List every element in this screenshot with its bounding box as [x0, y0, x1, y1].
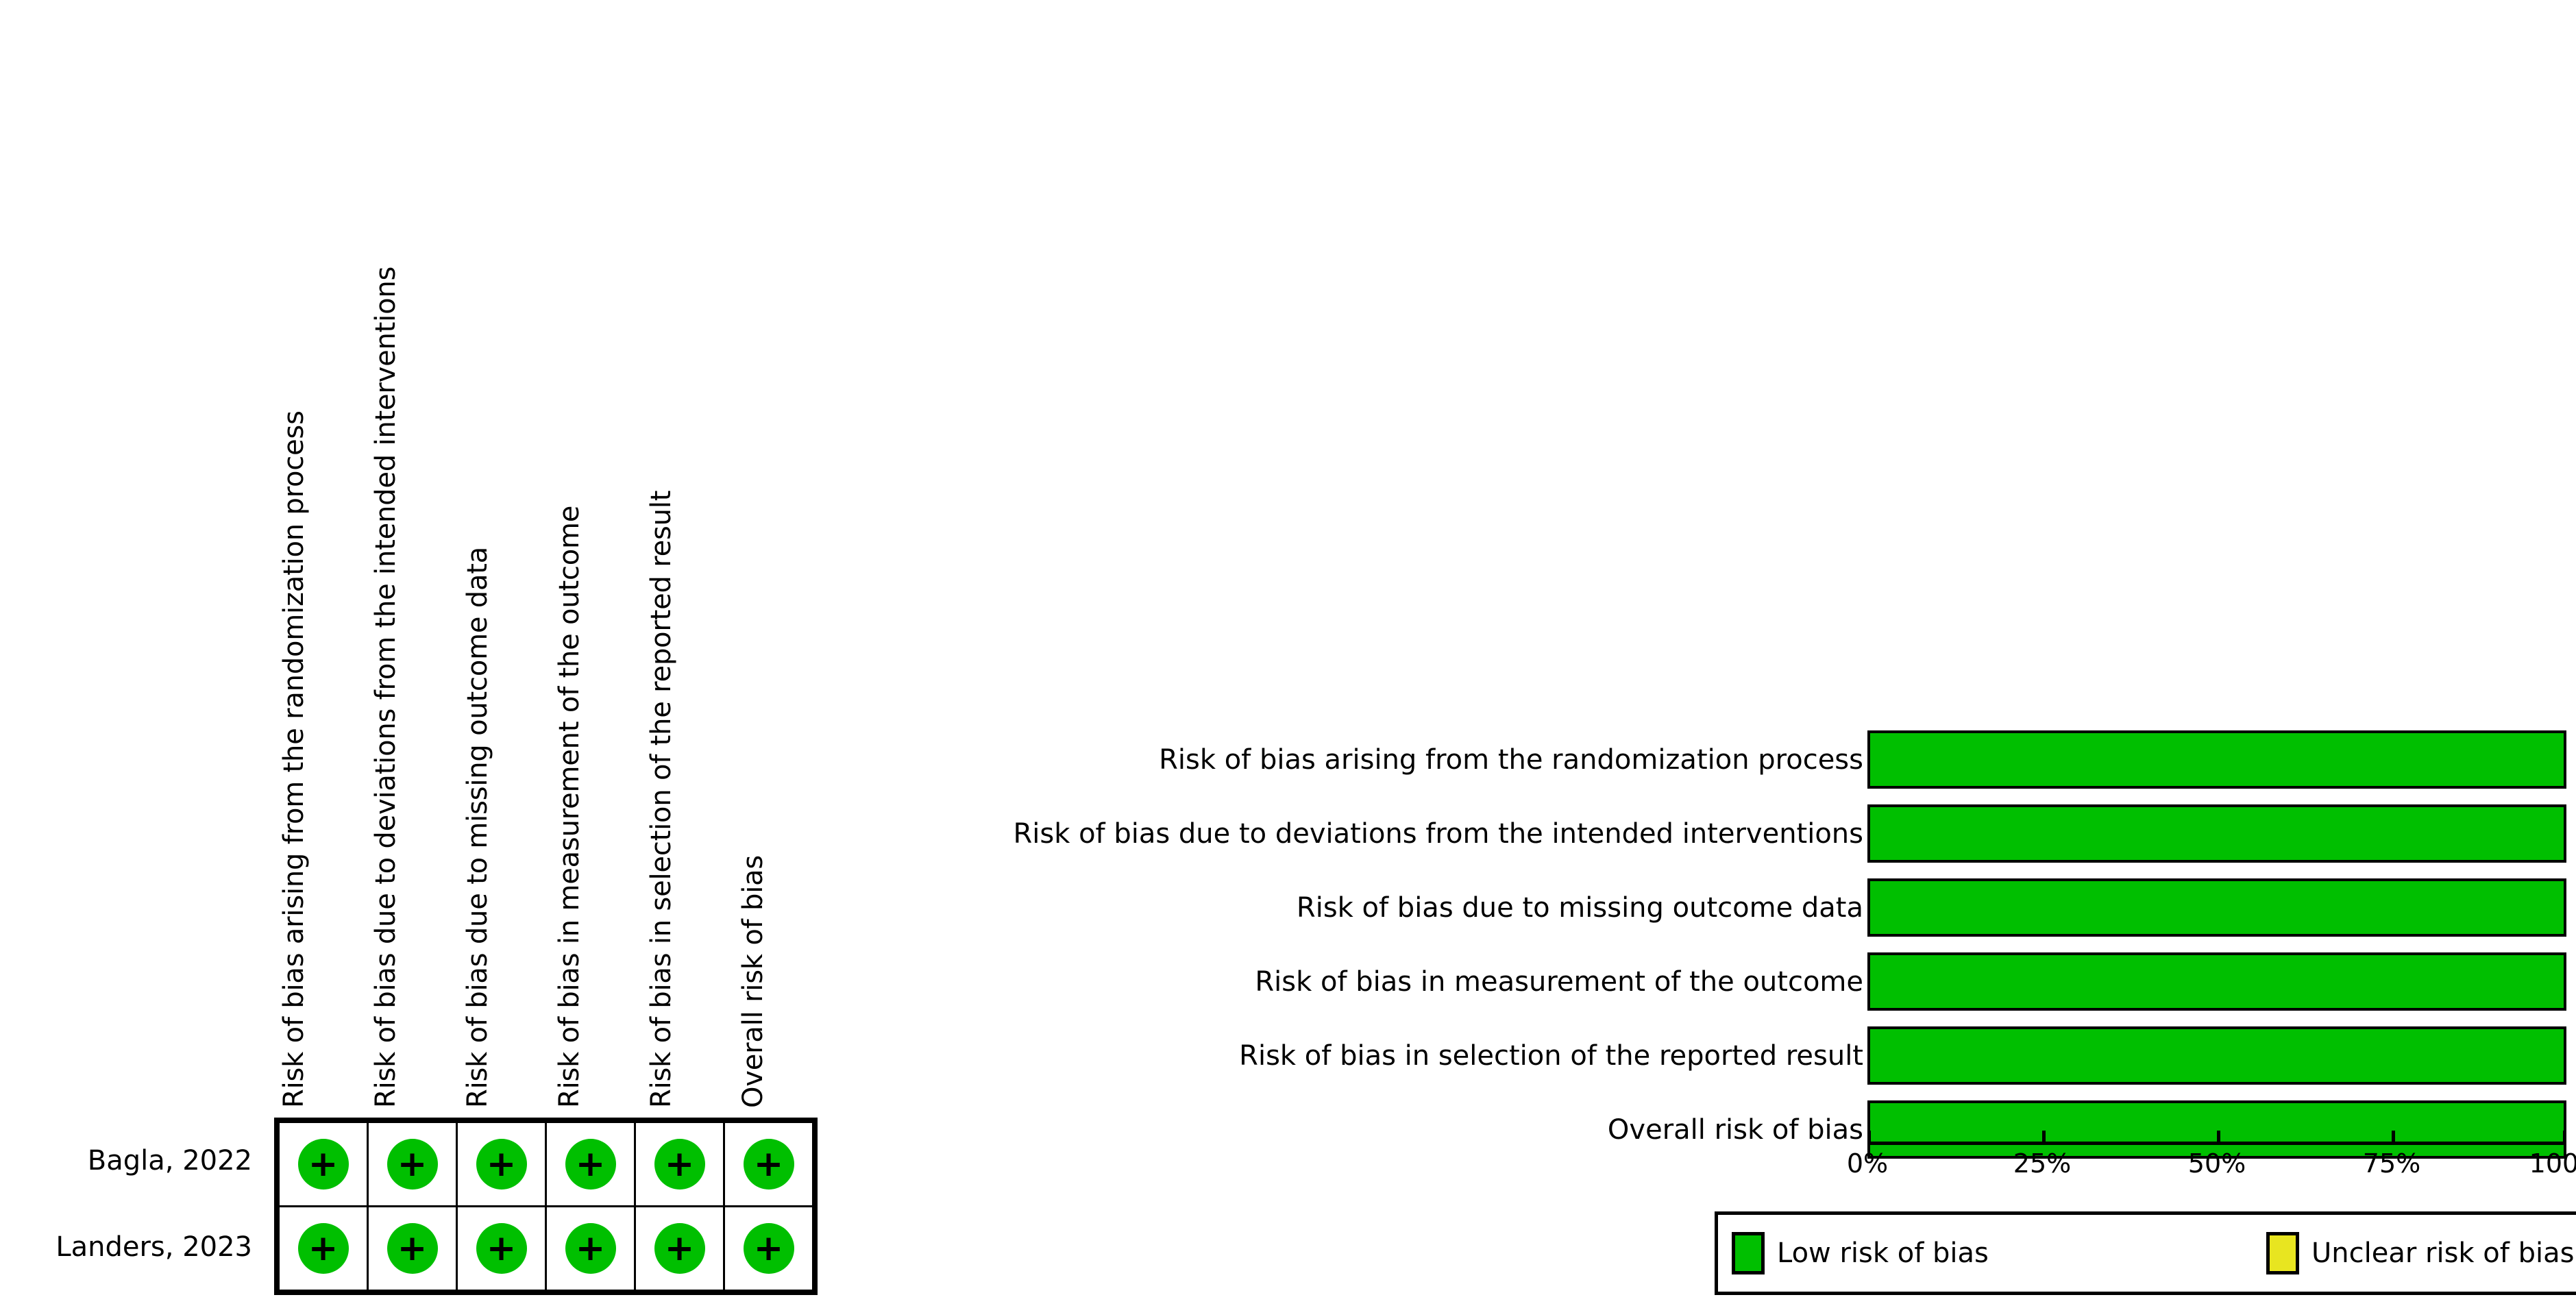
- judgement-low-icon: +: [298, 1139, 349, 1190]
- summary-bar-label: Risk of bias in measurement of the outco…: [890, 968, 1863, 996]
- summary-bar-row: Risk of bias due to deviations from the …: [843, 797, 2576, 871]
- traffic-light-cell[interactable]: +: [279, 1207, 368, 1291]
- summary-bar-chart-panel: Risk of bias arising from the randomizat…: [843, 0, 2576, 1306]
- judgement-glyph: +: [565, 1223, 616, 1274]
- judgement-glyph: +: [744, 1139, 794, 1190]
- judgement-glyph: +: [744, 1223, 794, 1274]
- column-header-label: Overall risk of bias: [739, 855, 767, 1108]
- judgement-glyph: +: [654, 1139, 705, 1190]
- summary-bar-row: Risk of bias in selection of the reporte…: [843, 1019, 2576, 1093]
- traffic-light-row: ++++++: [279, 1207, 813, 1291]
- summary-bar-row: Risk of bias arising from the randomizat…: [843, 723, 2576, 797]
- legend-swatch-unclear-icon: [2266, 1232, 2299, 1274]
- judgement-low-icon: +: [387, 1223, 438, 1274]
- bar-segment-low: [1870, 807, 2564, 860]
- x-axis-tick-label: 75%: [2363, 1148, 2420, 1179]
- column-header-label: Risk of bias arising from the randomizat…: [280, 410, 308, 1108]
- summary-bar-label: Risk of bias due to deviations from the …: [890, 820, 1863, 848]
- judgement-low-icon: +: [565, 1139, 616, 1190]
- x-axis-tick-label: 0%: [1847, 1148, 1888, 1179]
- traffic-light-cell[interactable]: +: [546, 1207, 635, 1291]
- traffic-light-table: ++++++++++++: [278, 1121, 814, 1292]
- traffic-light-cell[interactable]: +: [635, 1122, 724, 1207]
- summary-bar-row: Risk of bias due to missing outcome data: [843, 871, 2576, 945]
- judgement-low-icon: +: [744, 1139, 794, 1190]
- summary-bar-label: Overall risk of bias: [890, 1116, 1863, 1144]
- traffic-light-cell[interactable]: +: [724, 1122, 813, 1207]
- traffic-light-column-header: Risk of bias due to deviations from the …: [366, 0, 458, 1113]
- column-header-label: Risk of bias due to deviations from the …: [372, 267, 400, 1108]
- traffic-light-column-header: Risk of bias in measurement of the outco…: [550, 0, 641, 1113]
- judgement-low-icon: +: [476, 1223, 527, 1274]
- traffic-light-cell[interactable]: +: [546, 1122, 635, 1207]
- summary-bar-label: Risk of bias in selection of the reporte…: [890, 1042, 1863, 1070]
- judgement-glyph: +: [476, 1139, 527, 1190]
- traffic-light-column-header: Risk of bias due to missing outcome data: [458, 0, 550, 1113]
- legend-item-unclear[interactable]: Unclear risk of bias: [2266, 1232, 2574, 1274]
- x-axis-tick: [2042, 1131, 2046, 1145]
- legend: Low risk of biasUnclear risk of biasHigh…: [1715, 1211, 2576, 1295]
- traffic-light-cell[interactable]: +: [368, 1207, 457, 1291]
- legend-label: Low risk of bias: [1777, 1240, 1989, 1267]
- traffic-light-cell[interactable]: +: [457, 1122, 546, 1207]
- risk-of-bias-figure: Risk of bias arising from the randomizat…: [0, 0, 2576, 1306]
- study-label: Bagla, 2022: [0, 1118, 262, 1204]
- summary-bar-rows: Risk of bias arising from the randomizat…: [843, 723, 2576, 1167]
- judgement-low-icon: +: [654, 1139, 705, 1190]
- x-axis-tick: [2217, 1131, 2220, 1145]
- traffic-light-cell[interactable]: +: [724, 1207, 813, 1291]
- judgement-low-icon: +: [744, 1223, 794, 1274]
- x-axis-tick-label: 50%: [2188, 1148, 2246, 1179]
- judgement-low-icon: +: [387, 1139, 438, 1190]
- summary-bar-row: Risk of bias in measurement of the outco…: [843, 945, 2576, 1019]
- judgement-low-icon: +: [298, 1223, 349, 1274]
- bar-segment-low: [1870, 955, 2564, 1008]
- column-header-label: Risk of bias in measurement of the outco…: [556, 506, 583, 1108]
- traffic-light-cell[interactable]: +: [368, 1122, 457, 1207]
- column-header-label: Risk of bias due to missing outcome data: [464, 547, 491, 1108]
- judgement-glyph: +: [654, 1223, 705, 1274]
- x-axis-tick: [1867, 1131, 1871, 1145]
- judgement-glyph: +: [565, 1139, 616, 1190]
- judgement-glyph: +: [387, 1223, 438, 1274]
- x-axis-tick-label: 100%: [2529, 1148, 2576, 1179]
- traffic-light-row: ++++++: [279, 1122, 813, 1207]
- judgement-glyph: +: [298, 1139, 349, 1190]
- x-axis-tick: [2392, 1131, 2395, 1145]
- judgement-low-icon: +: [476, 1139, 527, 1190]
- judgement-glyph: +: [476, 1223, 527, 1274]
- bar-segment-low: [1870, 881, 2564, 934]
- traffic-light-column-header: Risk of bias in selection of the reporte…: [641, 0, 733, 1113]
- traffic-light-grid: ++++++++++++: [274, 1118, 818, 1295]
- judgement-glyph: +: [298, 1223, 349, 1274]
- judgement-low-icon: +: [565, 1223, 616, 1274]
- judgement-low-icon: +: [654, 1223, 705, 1274]
- summary-bar-label: Risk of bias arising from the randomizat…: [890, 746, 1863, 774]
- traffic-light-cell[interactable]: +: [279, 1122, 368, 1207]
- summary-bar: [1867, 952, 2566, 1011]
- traffic-light-cell[interactable]: +: [635, 1207, 724, 1291]
- traffic-light-column-header: Overall risk of bias: [733, 0, 825, 1113]
- bar-segment-low: [1870, 733, 2564, 786]
- column-header-label: Risk of bias in selection of the reporte…: [648, 491, 675, 1108]
- summary-bar-label: Risk of bias due to missing outcome data: [890, 894, 1863, 922]
- traffic-light-row-labels: Bagla, 2022Landers, 2023: [0, 1118, 262, 1290]
- traffic-light-column-headers: Risk of bias arising from the randomizat…: [274, 0, 828, 1113]
- study-label: Landers, 2023: [0, 1204, 262, 1290]
- summary-bar: [1867, 730, 2566, 789]
- x-axis: 0%25%50%75%100%: [1867, 1142, 2566, 1200]
- bar-segment-low: [1870, 1029, 2564, 1082]
- legend-swatch-low-icon: [1732, 1232, 1765, 1274]
- judgement-glyph: +: [387, 1139, 438, 1190]
- summary-bar: [1867, 1026, 2566, 1085]
- summary-bar: [1867, 878, 2566, 937]
- x-axis-tick: [2563, 1131, 2566, 1145]
- summary-bar: [1867, 804, 2566, 863]
- traffic-light-cell[interactable]: +: [457, 1207, 546, 1291]
- x-axis-tick-label: 25%: [2013, 1148, 2071, 1179]
- legend-label: Unclear risk of bias: [2311, 1240, 2574, 1267]
- traffic-light-column-header: Risk of bias arising from the randomizat…: [274, 0, 366, 1113]
- legend-item-low[interactable]: Low risk of bias: [1732, 1232, 1989, 1274]
- traffic-light-panel: Risk of bias arising from the randomizat…: [0, 0, 843, 1306]
